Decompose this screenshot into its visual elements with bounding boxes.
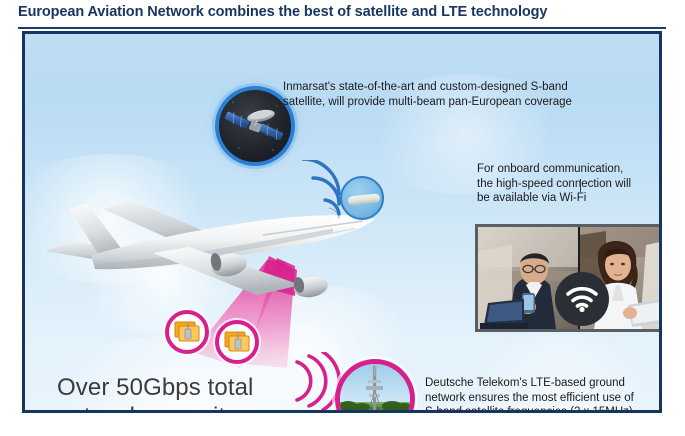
mobile-device-icon: [165, 310, 209, 354]
lte-tower-icon: [335, 359, 415, 413]
callout-satellite: Inmarsat's state-of-the-art and custom-d…: [283, 80, 662, 109]
wifi-icon: [555, 272, 609, 326]
infographic-panel: Inmarsat's state-of-the-art and custom-d…: [22, 31, 662, 413]
mobile-device-icon: [215, 320, 259, 364]
capacity-headline: Over 50Gbps total network capacity: [57, 373, 307, 413]
text-cursor-artifact: [580, 179, 581, 192]
antenna-blade: [348, 193, 381, 205]
page-title: European Aviation Network combines the b…: [18, 4, 668, 20]
callout-onboard: For onboard communication, the high-spee…: [477, 162, 662, 206]
title-divider: [18, 27, 666, 29]
aircraft-antenna-icon: [340, 176, 384, 220]
callout-ground: Deutsche Telekom's LTE-based ground netw…: [425, 376, 662, 413]
